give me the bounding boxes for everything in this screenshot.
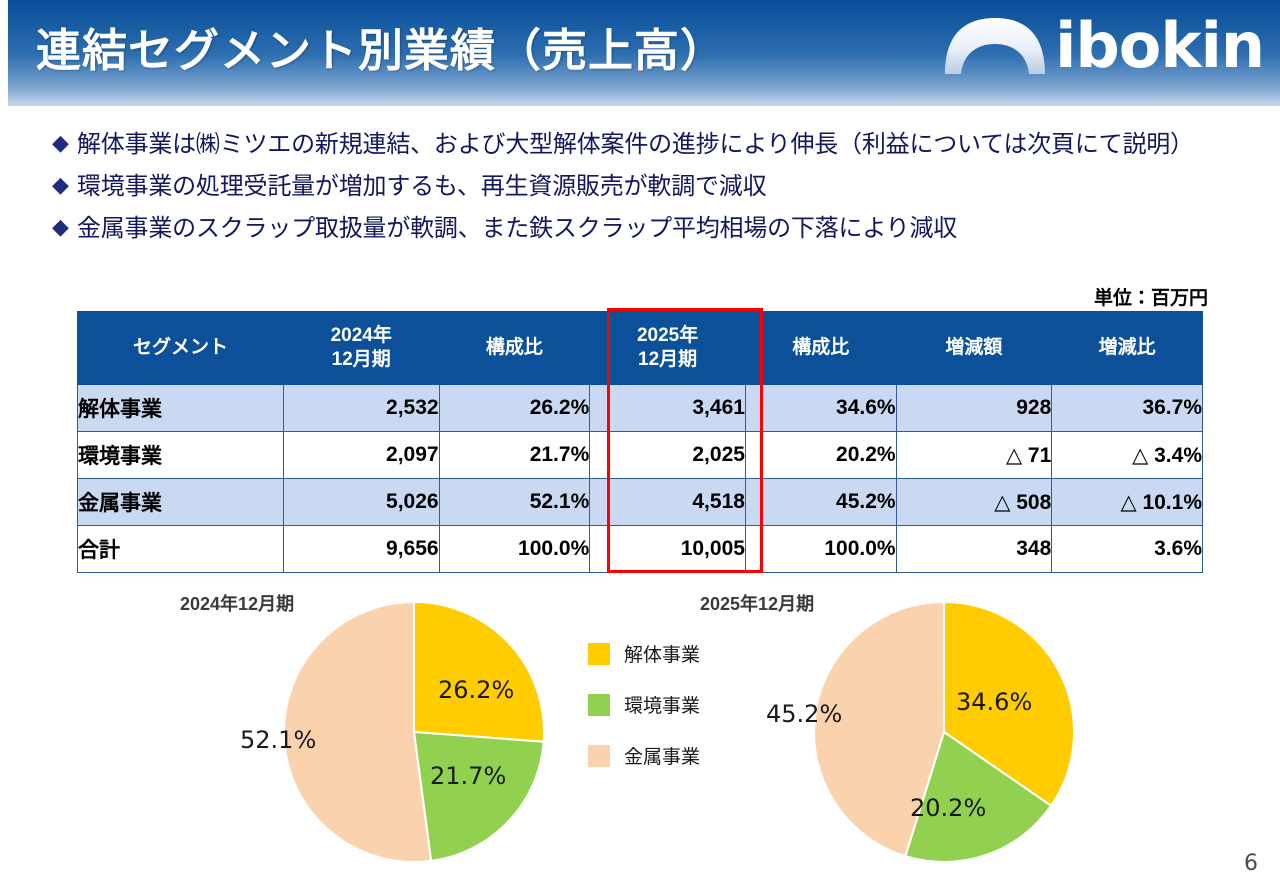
- pie-2024-svg: [280, 598, 548, 866]
- cell-fy2024: 2,532: [283, 385, 439, 432]
- cell-fy2024: 9,656: [283, 526, 439, 573]
- column-header-change-rate: 増減比: [1052, 312, 1203, 385]
- cell-share-2024: 21.7%: [439, 432, 590, 479]
- column-header-fy2024: 2024年 12月期: [283, 312, 439, 385]
- cell-change-rate: △ 3.4%: [1052, 432, 1203, 479]
- cell-fy2024: 2,097: [283, 432, 439, 479]
- cell-change-amount: 928: [896, 385, 1052, 432]
- ibokin-arch-logo-icon: [941, 14, 1049, 78]
- list-item: ◆ 金属事業のスクラップ取扱量が軟調、また鉄スクラップ平均相場の下落により減収: [52, 212, 1252, 246]
- cell-segment: 金属事業: [78, 479, 284, 526]
- cell-share-2024: 100.0%: [439, 526, 590, 573]
- cell-segment: 合計: [78, 526, 284, 573]
- bullet-text: 解体事業は㈱ミツエの新規連結、および大型解体案件の進捗により伸長（利益については…: [77, 128, 1194, 162]
- page-number: 6: [1244, 851, 1258, 876]
- legend-label-kaitai: 解体事業: [624, 640, 700, 667]
- table-header-row: セグメント 2024年 12月期 構成比 2025年 12月期 構成比 増減額: [78, 312, 1203, 385]
- cell-change-amount: 348: [896, 526, 1052, 573]
- cell-share-2025: 100.0%: [745, 526, 896, 573]
- bullet-text: 環境事業の処理受託量が増加するも、再生資源販売が軟調で減収: [77, 170, 766, 204]
- pie-2025-svg: [810, 598, 1078, 866]
- page-title: 連結セグメント別業績（売上高）: [36, 14, 726, 79]
- pie-2025-label-kaitai: 34.6%: [956, 688, 1032, 716]
- table-row: 金属事業 5,026 52.1% 4,518 45.2% △ 508 △ 10.…: [78, 479, 1203, 526]
- cell-fy2024: 5,026: [283, 479, 439, 526]
- column-header-share-2025: 構成比: [745, 312, 896, 385]
- list-item: ◆ 環境事業の処理受託量が増加するも、再生資源販売が軟調で減収: [52, 170, 1252, 204]
- pie-2025-label-kinzoku: 45.2%: [766, 700, 842, 728]
- slide-header: 連結セグメント別業績（売上高） ibokin: [8, 0, 1280, 106]
- column-header-change-amount: 増減額: [896, 312, 1052, 385]
- bullet-text: 金属事業のスクラップ取扱量が軟調、また鉄スクラップ平均相場の下落により減収: [77, 212, 957, 246]
- column-header-share-2024: 構成比: [439, 312, 590, 385]
- cell-fy2025: 10,005: [590, 526, 746, 573]
- legend-item-kinzoku: 金属事業: [588, 742, 700, 769]
- cell-share-2025: 34.6%: [745, 385, 896, 432]
- cell-change-rate: △ 10.1%: [1052, 479, 1203, 526]
- legend-swatch-kankyo: [588, 694, 610, 716]
- cell-fy2025: 2,025: [590, 432, 746, 479]
- pie-2025-label-kankyo: 20.2%: [910, 794, 986, 822]
- pie-slice: [414, 732, 544, 861]
- cell-change-rate: 36.7%: [1052, 385, 1203, 432]
- legend-swatch-kinzoku: [588, 745, 610, 767]
- segment-results-table: セグメント 2024年 12月期 構成比 2025年 12月期 構成比 増減額: [77, 311, 1203, 573]
- cell-change-amount: △ 508: [896, 479, 1052, 526]
- table-row-total: 合計 9,656 100.0% 10,005 100.0% 348 3.6%: [78, 526, 1203, 573]
- pie-2024-label-kinzoku: 52.1%: [240, 726, 316, 754]
- legend-item-kankyo: 環境事業: [588, 691, 700, 718]
- table-row: 解体事業 2,532 26.2% 3,461 34.6% 928 36.7%: [78, 385, 1203, 432]
- company-logo: ibokin: [941, 8, 1264, 84]
- legend-swatch-kaitai: [588, 643, 610, 665]
- legend-label-kinzoku: 金属事業: [624, 742, 700, 769]
- logo-wordmark: ibokin: [1055, 14, 1264, 78]
- cell-segment: 環境事業: [78, 432, 284, 479]
- cell-share-2024: 52.1%: [439, 479, 590, 526]
- cell-fy2025: 3,461: [590, 385, 746, 432]
- diamond-bullet-icon: ◆: [52, 212, 69, 242]
- chart-legend: 解体事業 環境事業 金属事業: [588, 640, 700, 793]
- cell-fy2025: 4,518: [590, 479, 746, 526]
- cell-share-2025: 20.2%: [745, 432, 896, 479]
- cell-share-2025: 45.2%: [745, 479, 896, 526]
- cell-change-rate: 3.6%: [1052, 526, 1203, 573]
- pie-2024-label-kankyo: 21.7%: [430, 762, 506, 790]
- legend-item-kaitai: 解体事業: [588, 640, 700, 667]
- pie-2024-label-kaitai: 26.2%: [438, 676, 514, 704]
- list-item: ◆ 解体事業は㈱ミツエの新規連結、および大型解体案件の進捗により伸長（利益につい…: [52, 128, 1252, 162]
- diamond-bullet-icon: ◆: [52, 128, 69, 158]
- pie-slice: [414, 602, 544, 742]
- cell-share-2024: 26.2%: [439, 385, 590, 432]
- pie-chart-section: 2024年12月期 26.2% 21.7% 52.1% 解体事業 環境事業 金属…: [0, 586, 1280, 886]
- column-header-segment: セグメント: [78, 312, 284, 385]
- column-header-fy2025: 2025年 12月期: [590, 312, 746, 385]
- chart-title-2025: 2025年12月期: [700, 590, 814, 616]
- legend-label-kankyo: 環境事業: [624, 691, 700, 718]
- cell-change-amount: △ 71: [896, 432, 1052, 479]
- chart-title-2024: 2024年12月期: [180, 590, 294, 616]
- bullet-list: ◆ 解体事業は㈱ミツエの新規連結、および大型解体案件の進捗により伸長（利益につい…: [52, 128, 1252, 254]
- unit-label: 単位：百万円: [1094, 283, 1208, 310]
- diamond-bullet-icon: ◆: [52, 170, 69, 200]
- cell-segment: 解体事業: [78, 385, 284, 432]
- table-row: 環境事業 2,097 21.7% 2,025 20.2% △ 71 △ 3.4%: [78, 432, 1203, 479]
